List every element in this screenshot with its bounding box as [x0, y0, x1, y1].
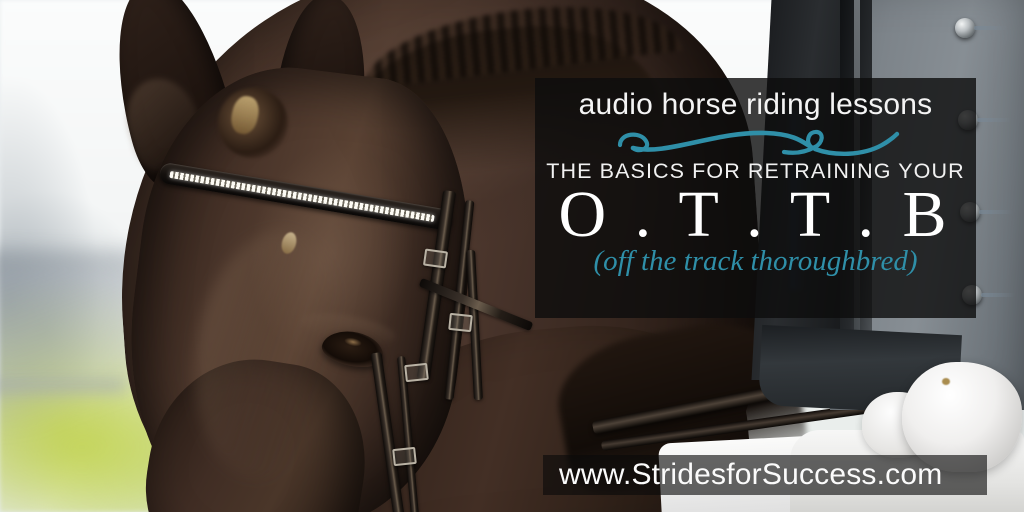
glove-detail	[942, 378, 950, 385]
teal-flourish-swash-icon	[606, 123, 906, 157]
website-url-bar: www.StridesforSuccess.com	[543, 455, 987, 495]
coat-button-stem	[979, 210, 1013, 214]
coat-button-stem	[974, 26, 1008, 30]
bridle-buckle	[423, 248, 448, 268]
website-url: www.StridesforSuccess.com	[543, 458, 942, 492]
bridle-buckle	[392, 447, 417, 466]
text-overlay-panel: audio horse riding lessons THE BASICS FO…	[535, 78, 976, 318]
bridle-buckle	[448, 313, 473, 332]
coat-button	[955, 18, 975, 38]
overlay-tagline: (off the track thoroughbred)	[593, 246, 917, 278]
blurred-fence-rail	[0, 378, 125, 394]
banner-image: audio horse riding lessons THE BASICS FO…	[0, 0, 1024, 512]
coat-button-stem	[981, 293, 1015, 297]
bridle-buckle	[404, 363, 429, 382]
coat-button-stem	[977, 118, 1011, 122]
overlay-kicker: audio horse riding lessons	[579, 88, 933, 121]
overlay-headline: O . T . T . B	[558, 182, 952, 248]
